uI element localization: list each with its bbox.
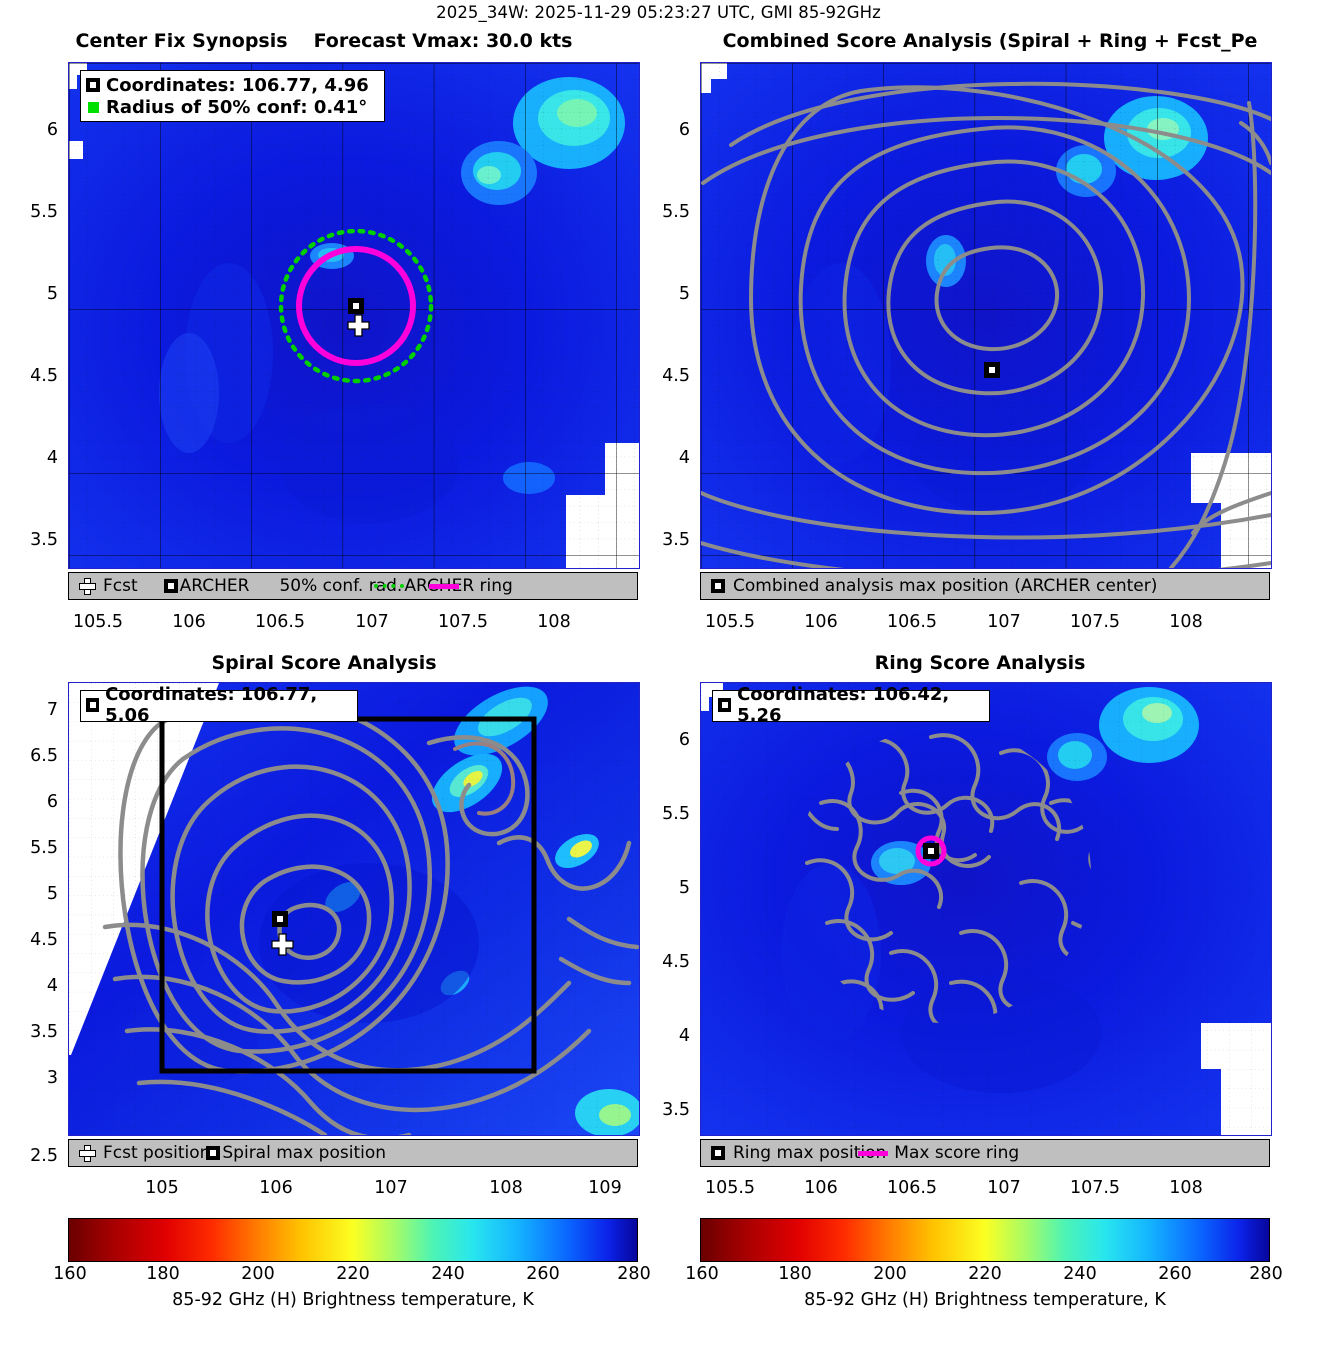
black-square-marker-icon — [711, 1146, 725, 1160]
p4-ytick-6: 6 — [640, 730, 690, 750]
panel-title-ring-score: Ring Score Analysis — [660, 652, 1300, 674]
legend-item-max-score-ring: Max score ring — [886, 1143, 1019, 1163]
p1-xtick-105.5: 105.5 — [68, 612, 128, 632]
legend-item-archer-ring: ARCHER ring — [404, 576, 458, 596]
green-square-marker-icon — [88, 102, 99, 113]
p4-ytick-4.5: 4.5 — [640, 952, 690, 972]
legend-item-conf-rad: 50% conf. rad. — [279, 576, 404, 596]
p1-xtick-106.5: 106.5 — [250, 612, 310, 632]
p1-ytick-4.5: 4.5 — [8, 366, 58, 386]
black-square-marker-icon — [86, 78, 100, 92]
p3-ytick-6: 6 — [8, 792, 58, 812]
legend-item-archer-label: ARCHER — [180, 576, 250, 596]
p2-xtick-108: 108 — [1156, 612, 1216, 632]
p1-xtick-108: 108 — [524, 612, 584, 632]
p3-xtick-109: 109 — [575, 1178, 635, 1198]
panel-ring-score-analysis[interactable] — [700, 682, 1272, 1136]
legend-box-center-fix: Coordinates: 106.77, 4.96 Radius of 50% … — [80, 70, 385, 122]
p3-xtick-107: 107 — [361, 1178, 421, 1198]
cb2-tick-260: 260 — [1158, 1264, 1191, 1284]
legend-box-ring-score: Coordinates: 106.42, 5.26 — [712, 690, 990, 722]
cross-marker-icon — [79, 578, 96, 595]
legend-item-max-score-ring-label: Max score ring — [894, 1143, 1019, 1163]
colorbar-left-ticks: 160 180 200 220 240 260 280 — [68, 1262, 638, 1288]
legend-bar-ring-score: Ring max position Max score ring — [700, 1139, 1270, 1167]
cb2-tick-240: 240 — [1063, 1264, 1096, 1284]
p2-xtick-107.5: 107.5 — [1065, 612, 1125, 632]
p1-ytick-3.5: 3.5 — [8, 530, 58, 550]
panel-spiral-score-analysis[interactable] — [68, 682, 640, 1136]
p1-ytick-4: 4 — [8, 448, 58, 468]
legend-item-spiral-max: Spiral max position — [206, 1143, 386, 1163]
p3-ytick-6.5: 6.5 — [8, 746, 58, 766]
legend-bar-spiral-score: Fcst position Spiral max position — [68, 1139, 638, 1167]
p3-ytick-5.5: 5.5 — [8, 838, 58, 858]
ring-max-position-marker — [923, 843, 939, 859]
black-square-marker-icon — [711, 579, 725, 593]
p2-ytick-6: 6 — [640, 120, 690, 140]
p4-ytick-5: 5 — [640, 878, 690, 898]
p2-xtick-107: 107 — [974, 612, 1034, 632]
panel-combined-score-analysis[interactable] — [700, 62, 1272, 569]
p3-ytick-7: 7 — [8, 700, 58, 720]
black-square-marker-icon — [86, 698, 99, 712]
p4-xtick-105.5: 105.5 — [700, 1178, 760, 1198]
legend-bar-center-fix: Fcst ARCHER 50% conf. rad. ARCHER ring — [68, 572, 638, 600]
magenta-line-icon — [429, 584, 459, 589]
archer-center-marker — [348, 298, 364, 314]
legend-item-spiral-max-label: Spiral max position — [222, 1143, 386, 1163]
panel-center-fix-synopsis[interactable] — [68, 62, 640, 569]
legend-item-fcst-position: Fcst position — [79, 1143, 210, 1163]
p4-xtick-108: 108 — [1156, 1178, 1216, 1198]
archer-center-fix-figure: 2025_34W: 2025-11-29 05:23:27 UTC, GMI 8… — [0, 0, 1317, 1350]
p2-ytick-4: 4 — [640, 448, 690, 468]
p3-xtick-106: 106 — [246, 1178, 306, 1198]
colorbar-left-gradient — [68, 1218, 638, 1262]
colorbar-right-gradient — [700, 1218, 1270, 1262]
legend-box-spiral-score: Coordinates: 106.77, 5.06 — [80, 690, 358, 722]
cb2-tick-160: 160 — [685, 1264, 718, 1284]
cb1-tick-180: 180 — [146, 1264, 179, 1284]
cb1-tick-280: 280 — [617, 1264, 650, 1284]
p2-ytick-5.5: 5.5 — [640, 202, 690, 222]
combined-max-position-marker — [984, 362, 1000, 378]
cb1-tick-260: 260 — [526, 1264, 559, 1284]
p4-ytick-3.5: 3.5 — [640, 1100, 690, 1120]
colorbar-right-ticks: 160 180 200 220 240 260 280 — [700, 1262, 1270, 1288]
p1-xtick-106: 106 — [159, 612, 219, 632]
legend-row-spiral-coordinates: Coordinates: 106.77, 5.06 — [86, 694, 351, 716]
legend-item-archer: ARCHER — [164, 576, 250, 596]
legend-item-fcst: Fcst — [79, 576, 138, 596]
legend-conf-radius-text: Radius of 50% conf: 0.41° — [106, 97, 367, 118]
p4-xtick-107: 107 — [974, 1178, 1034, 1198]
p1-xtick-107.5: 107.5 — [433, 612, 493, 632]
p4-ytick-5.5: 5.5 — [640, 804, 690, 824]
p4-xtick-106.5: 106.5 — [882, 1178, 942, 1198]
black-square-marker-icon — [718, 698, 731, 712]
legend-item-fcst-position-label: Fcst position — [103, 1143, 210, 1163]
panel-title-spiral-score: Spiral Score Analysis — [0, 652, 648, 674]
legend-coordinates-text: Coordinates: 106.77, 4.96 — [106, 75, 369, 96]
p2-ytick-3.5: 3.5 — [640, 530, 690, 550]
legend-spiral-coordinates-text: Coordinates: 106.77, 5.06 — [105, 684, 351, 726]
colorbar-left-label: 85-92 GHz (H) Brightness temperature, K — [68, 1290, 638, 1310]
cross-marker-icon — [79, 1145, 96, 1162]
legend-item-combined-max-label: Combined analysis max position (ARCHER c… — [733, 576, 1157, 596]
p1-ytick-5.5: 5.5 — [8, 202, 58, 222]
p3-ytick-2.5: 2.5 — [8, 1146, 58, 1166]
p4-xtick-106: 106 — [791, 1178, 851, 1198]
cb1-tick-160: 160 — [53, 1264, 86, 1284]
cb1-tick-220: 220 — [336, 1264, 369, 1284]
cb2-tick-180: 180 — [778, 1264, 811, 1284]
panel-title-combined-score: Combined Score Analysis (Spiral + Ring +… — [660, 30, 1317, 52]
cb1-tick-240: 240 — [431, 1264, 464, 1284]
p4-xtick-107.5: 107.5 — [1065, 1178, 1125, 1198]
cb2-tick-200: 200 — [873, 1264, 906, 1284]
p2-ytick-5: 5 — [640, 284, 690, 304]
legend-row-coordinates: Coordinates: 106.77, 4.96 — [86, 74, 378, 96]
spiral-max-position-marker — [272, 911, 288, 927]
p1-ytick-6: 6 — [8, 120, 58, 140]
black-square-marker-icon — [164, 579, 178, 593]
legend-ring-coordinates-text: Coordinates: 106.42, 5.26 — [737, 684, 983, 726]
magenta-line-icon — [858, 1151, 888, 1156]
p3-ytick-4.5: 4.5 — [8, 930, 58, 950]
cb2-tick-220: 220 — [968, 1264, 1001, 1284]
legend-item-combined-max: Combined analysis max position (ARCHER c… — [711, 576, 1157, 596]
legend-item-fcst-label: Fcst — [103, 576, 138, 596]
cb1-tick-200: 200 — [241, 1264, 274, 1284]
figure-suptitle: 2025_34W: 2025-11-29 05:23:27 UTC, GMI 8… — [0, 3, 1317, 22]
p2-xtick-106.5: 106.5 — [882, 612, 942, 632]
colorbar-left: 160 180 200 220 240 260 280 85-92 GHz (H… — [68, 1218, 638, 1310]
p1-xtick-107: 107 — [342, 612, 402, 632]
p3-xtick-105: 105 — [132, 1178, 192, 1198]
legend-bar-combined-score: Combined analysis max position (ARCHER c… — [700, 572, 1270, 600]
p1-ytick-5: 5 — [8, 284, 58, 304]
legend-row-ring-coordinates: Coordinates: 106.42, 5.26 — [718, 694, 983, 716]
p3-ytick-3.5: 3.5 — [8, 1022, 58, 1042]
colorbar-right: 160 180 200 220 240 260 280 85-92 GHz (H… — [700, 1218, 1270, 1310]
p3-xtick-108: 108 — [476, 1178, 536, 1198]
p2-xtick-105.5: 105.5 — [700, 612, 760, 632]
p3-ytick-5: 5 — [8, 884, 58, 904]
legend-row-conf-radius: Radius of 50% conf: 0.41° — [86, 96, 378, 118]
cb2-tick-280: 280 — [1249, 1264, 1282, 1284]
panel-title-center-fix: Center Fix SynopsisForecast Vmax: 30.0 k… — [0, 30, 648, 52]
black-square-marker-icon — [206, 1146, 220, 1160]
p2-xtick-106: 106 — [791, 612, 851, 632]
green-dotted-line-icon — [374, 584, 404, 588]
p4-ytick-4: 4 — [640, 1026, 690, 1046]
p3-ytick-4: 4 — [8, 976, 58, 996]
p2-ytick-4.5: 4.5 — [640, 366, 690, 386]
p3-ytick-3: 3 — [8, 1068, 58, 1088]
colorbar-right-label: 85-92 GHz (H) Brightness temperature, K — [700, 1290, 1270, 1310]
